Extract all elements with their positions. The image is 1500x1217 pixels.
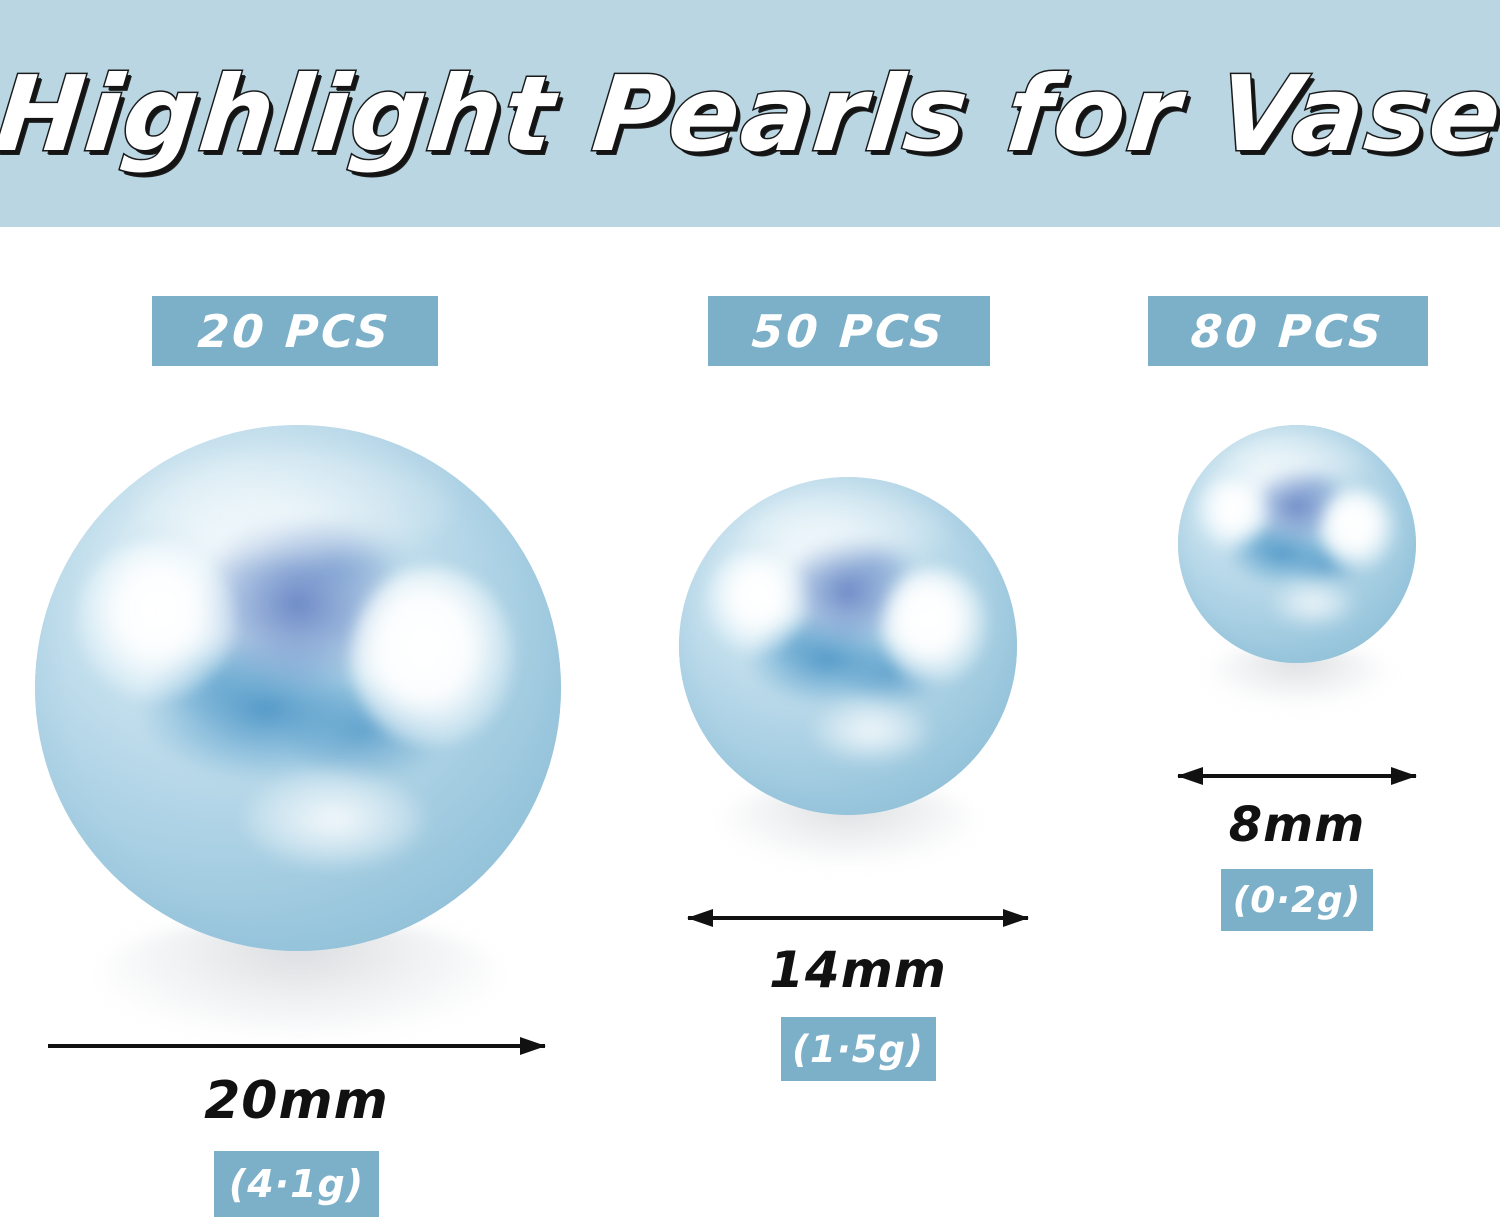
diameter-label-20mm: 20mm	[48, 1071, 545, 1131]
arrow-head-right-icon	[1003, 909, 1029, 927]
arrow-head-right-icon	[520, 1037, 546, 1055]
dimension-arrow-20mm	[48, 1041, 545, 1051]
weight-badge-20mm-label: (4·1g)	[229, 1162, 364, 1206]
weight-badge-14mm: (1·5g)	[781, 1017, 936, 1081]
pcs-badge-80: 80 PCS	[1148, 296, 1428, 366]
pearl-14mm-image	[679, 477, 1017, 815]
arrow-head-left-icon	[687, 909, 713, 927]
arrow-shaft	[688, 916, 1028, 920]
weight-badge-8mm: (0·2g)	[1221, 869, 1373, 931]
diameter-label-8mm: 8mm	[1178, 797, 1416, 853]
pcs-badge-20-label: 20 PCS	[197, 305, 394, 358]
weight-badge-8mm-label: (0·2g)	[1233, 880, 1361, 921]
measurement-group-20mm: 20mm (4·1g)	[48, 1041, 545, 1217]
weight-badge-20mm: (4·1g)	[214, 1151, 379, 1217]
pcs-badge-50: 50 PCS	[708, 296, 990, 366]
page-title: Highlight Pearls for Vase	[0, 53, 1500, 175]
measurement-group-8mm: 8mm (0·2g)	[1178, 771, 1416, 931]
pcs-badge-80-label: 80 PCS	[1190, 305, 1387, 358]
arrow-head-right-icon	[1391, 767, 1417, 785]
arrow-shaft	[48, 1044, 545, 1048]
arrow-shaft	[1178, 774, 1416, 778]
measurement-group-14mm: 14mm (1·5g)	[688, 913, 1028, 1081]
weight-badge-row: (4·1g)	[48, 1131, 545, 1217]
diameter-label-14mm: 14mm	[688, 941, 1028, 999]
product-comparison-stage: 20 PCS 50 PCS 80 PCS	[0, 227, 1500, 1208]
pearl-rim-shading	[35, 425, 561, 951]
header-banner: Highlight Pearls for Vase	[0, 0, 1500, 227]
pcs-badge-20: 20 PCS	[152, 296, 438, 366]
pearl-20mm-image	[35, 425, 561, 951]
pearl-rim-shading	[679, 477, 1017, 815]
arrow-head-left-icon	[1177, 767, 1203, 785]
weight-badge-row: (0·2g)	[1178, 853, 1416, 931]
pearl-8mm-image	[1178, 425, 1416, 663]
dimension-arrow-14mm	[688, 913, 1028, 923]
pearl-rim-shading	[1178, 425, 1416, 663]
dimension-arrow-8mm	[1178, 771, 1416, 781]
pcs-badge-50-label: 50 PCS	[751, 305, 948, 358]
weight-badge-row: (1·5g)	[688, 999, 1028, 1081]
weight-badge-14mm-label: (1·5g)	[792, 1028, 924, 1071]
